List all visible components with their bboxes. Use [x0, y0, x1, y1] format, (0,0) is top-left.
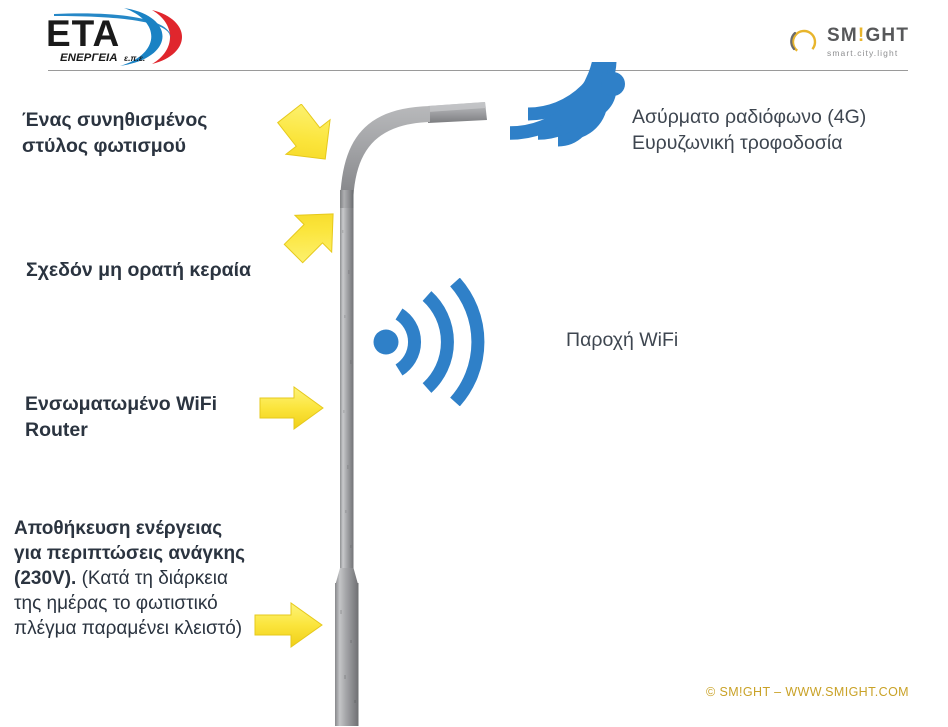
- label-wifi-supply: Παροχή WiFi: [566, 328, 786, 354]
- slide-canvas: ETA ΕΝΕΡΓΕΙΑ ε.π.ε. SM!GHT smart.city.li…: [0, 0, 948, 727]
- label-energy-storage: Αποθήκευση ενέργειας για περιπτώσεις ανά…: [14, 516, 250, 641]
- eta-logo: ETA ΕΝΕΡΓΕΙΑ ε.π.ε.: [24, 4, 214, 70]
- header-divider: [48, 70, 908, 71]
- copyright-note: © SM!GHT – WWW.SMIGHT.COM: [706, 685, 909, 699]
- svg-text:ETA: ETA: [46, 13, 120, 54]
- smight-tagline: smart.city.light: [827, 49, 909, 58]
- smight-logo: SM!GHT smart.city.light: [788, 20, 938, 64]
- svg-text:ε.π.ε.: ε.π.ε.: [124, 53, 145, 63]
- svg-text:ΕΝΕΡΓΕΙΑ: ΕΝΕΡΓΕΙΑ: [60, 52, 118, 64]
- label-ordinary-pole: Ένας συνηθισμένος στύλος φωτισμού: [22, 108, 272, 159]
- label-integrated-wifi-router: Ενσωματωμένο WiFi Router: [25, 392, 265, 443]
- street-lamp-post-illustration: [300, 80, 510, 727]
- smight-wordmark-left: SM: [827, 25, 858, 46]
- smight-wordmark: SM!GHT: [827, 26, 909, 45]
- smight-wordmark-right: GHT: [865, 25, 909, 46]
- label-invisible-antenna: Σχεδόν μη ορατή κεραία: [26, 258, 294, 284]
- smight-ring-icon: [788, 27, 818, 57]
- wifi-signal-icon-top: [505, 62, 633, 180]
- smight-wordmark-group: SM!GHT smart.city.light: [827, 26, 909, 58]
- label-wireless-radio-4g: Ασύρματο ραδιόφωνο (4G) Ευρυζωνική τροφο…: [632, 105, 932, 156]
